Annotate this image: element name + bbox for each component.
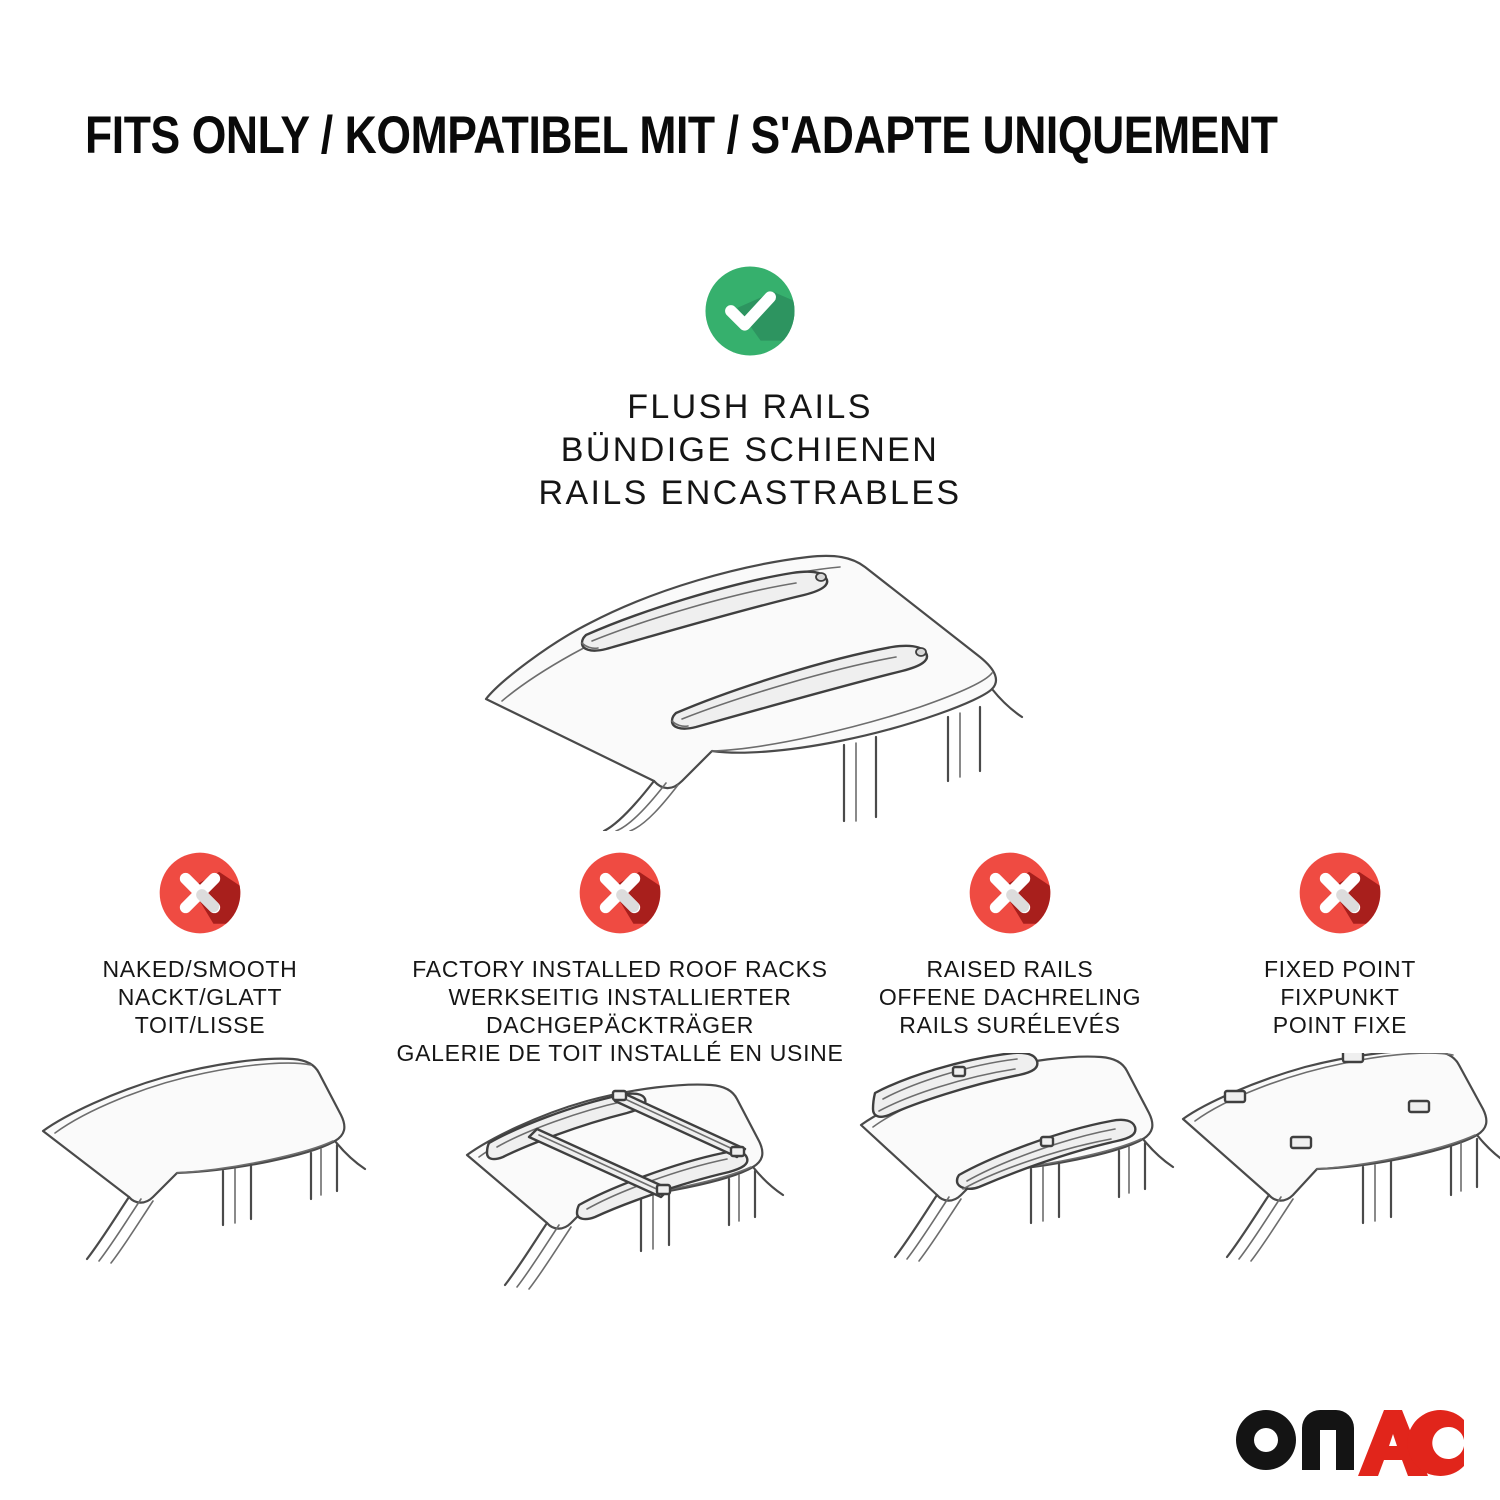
compatible-label-en: FLUSH RAILS [539, 386, 962, 429]
label-de: NACKT/GLATT [103, 983, 298, 1011]
label-fr: GALERIE DE TOIT INSTALLÉ EN USINE [396, 1039, 843, 1067]
incompatible-item-fixed-point: FIXED POINT FIXPUNKT POINT FIXE [1180, 845, 1500, 1296]
green-check-circle-icon [697, 258, 803, 364]
car-roof-with-factory-crossbars-illustration [445, 1081, 795, 1296]
compatible-section: FLUSH RAILS BÜNDIGE SCHIENEN RAILS ENCAS… [0, 258, 1500, 831]
label-de: FIXPUNKT [1264, 983, 1416, 1011]
car-roof-bare-illustration [25, 1053, 375, 1268]
label-fr: TOIT/LISSE [103, 1011, 298, 1039]
car-roof-with-fixed-points-illustration [1165, 1053, 1500, 1268]
label-en: RAISED RAILS [879, 955, 1141, 983]
incompatible-item-factory-roof-racks: FACTORY INSTALLED ROOF RACKS WERKSEITIG … [400, 845, 840, 1296]
incompatible-item-raised-rails: RAISED RAILS OFFENE DACHRELING RAILS SUR… [840, 845, 1180, 1296]
compatible-label-fr: RAILS ENCASTRABLES [539, 472, 962, 515]
red-cross-circle-icon [152, 845, 248, 941]
red-cross-circle-icon [1292, 845, 1388, 941]
label-fr: RAILS SURÉLEVÉS [879, 1011, 1141, 1039]
incompatible-labels: NAKED/SMOOTH NACKT/GLATT TOIT/LISSE [103, 955, 298, 1039]
incompatible-labels: FACTORY INSTALLED ROOF RACKS WERKSEITIG … [396, 955, 843, 1067]
compatible-labels: FLUSH RAILS BÜNDIGE SCHIENEN RAILS ENCAS… [539, 386, 962, 515]
compatible-label-de: BÜNDIGE SCHIENEN [539, 429, 962, 472]
red-cross-circle-icon [572, 845, 668, 941]
logo-letter-m [1302, 1410, 1354, 1470]
red-cross-circle-icon [962, 845, 1058, 941]
logo-letter-o [1236, 1410, 1296, 1470]
label-en: NAKED/SMOOTH [103, 955, 298, 983]
car-roof-with-raised-rails-illustration [835, 1053, 1185, 1268]
incompatible-section: NAKED/SMOOTH NACKT/GLATT TOIT/LISSE [0, 845, 1500, 1296]
label-en: FIXED POINT [1264, 955, 1416, 983]
omac-logo [1232, 1406, 1464, 1484]
label-en: FACTORY INSTALLED ROOF RACKS [396, 955, 843, 983]
incompatible-labels: RAISED RAILS OFFENE DACHRELING RAILS SUR… [879, 955, 1141, 1039]
label-de-1: WERKSEITIG INSTALLIERTER [396, 983, 843, 1011]
incompatible-labels: FIXED POINT FIXPUNKT POINT FIXE [1264, 955, 1416, 1039]
label-fr: POINT FIXE [1264, 1011, 1416, 1039]
page-title: FITS ONLY / KOMPATIBEL MIT / S'ADAPTE UN… [85, 108, 1211, 164]
label-de-2: DACHGEPÄCKTRÄGER [396, 1011, 843, 1039]
label-de: OFFENE DACHRELING [879, 983, 1141, 1011]
incompatible-item-naked-smooth: NAKED/SMOOTH NACKT/GLATT TOIT/LISSE [0, 845, 400, 1296]
car-roof-with-flush-rails-illustration [440, 531, 1060, 831]
